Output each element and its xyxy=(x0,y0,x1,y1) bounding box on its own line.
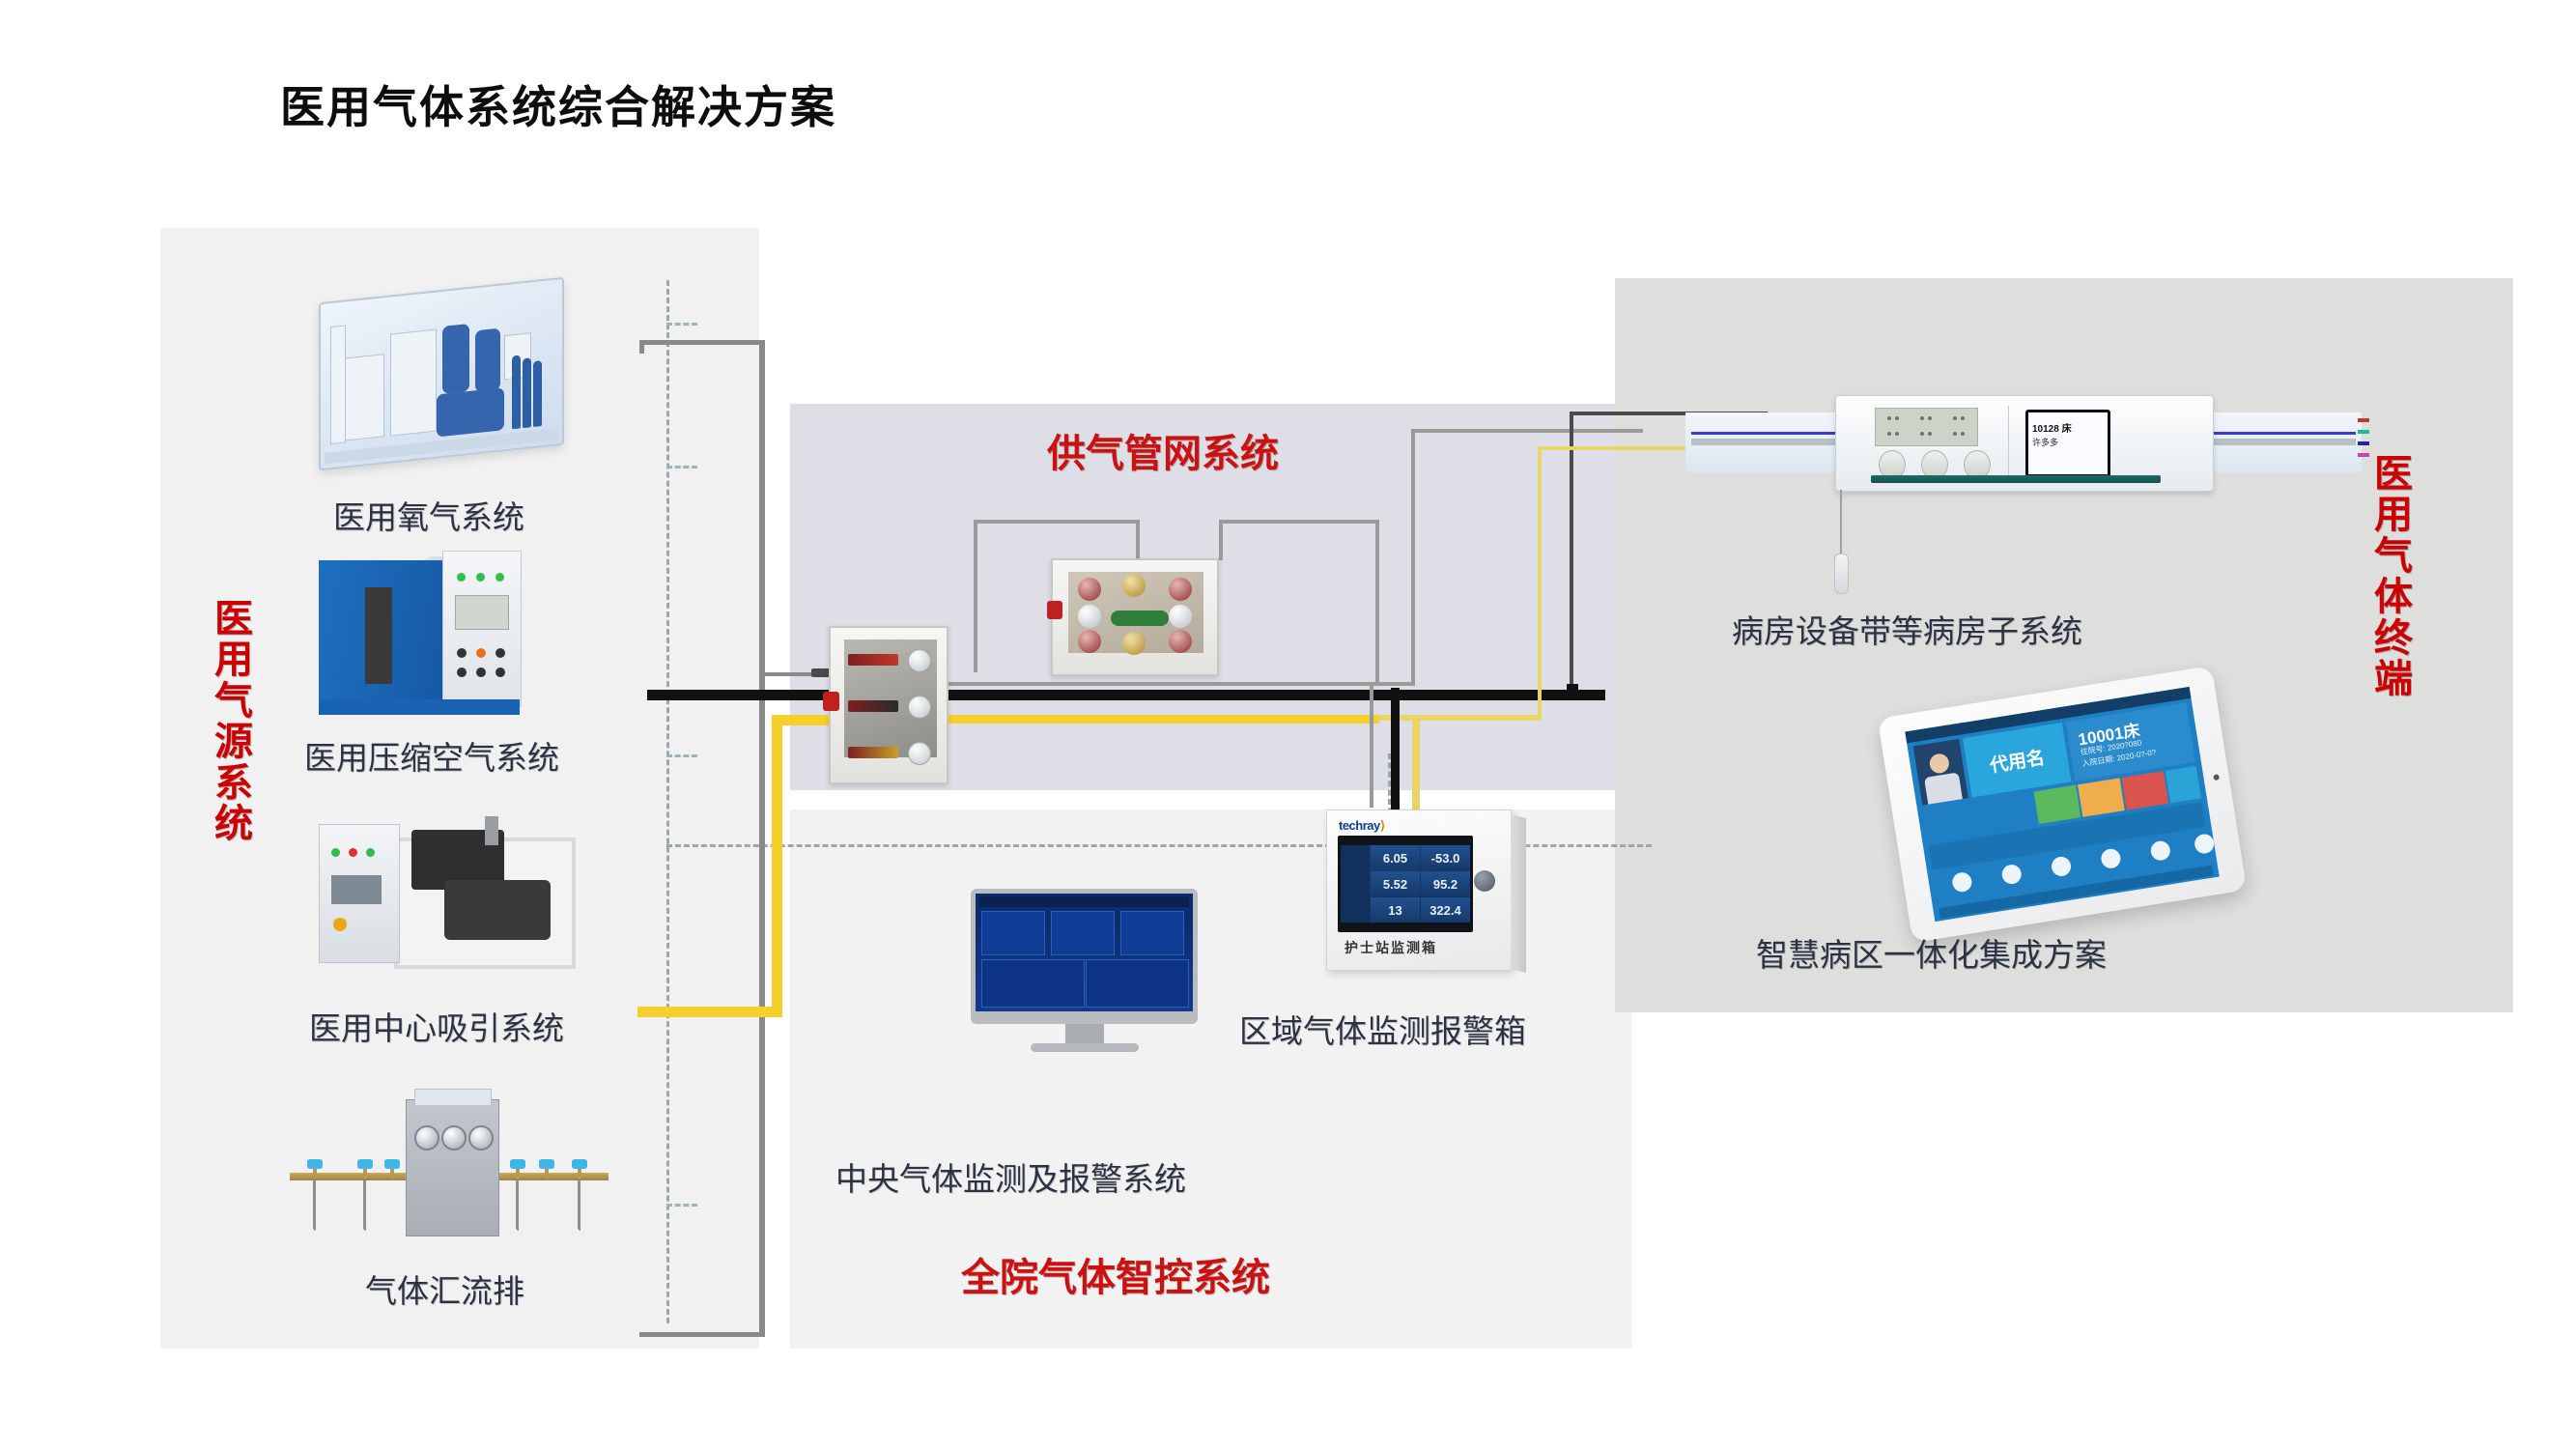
pipe-gray-right-riser xyxy=(1411,429,1415,686)
valve-box-icon xyxy=(829,626,948,784)
pipe-gray-drop-control xyxy=(1370,686,1373,808)
guide-bracket-1 xyxy=(666,323,697,326)
alarm-reading-2: -53.0 xyxy=(1421,845,1470,870)
side-label-terminal-char-2: 气 xyxy=(2364,536,2422,577)
imac-monitor-icon xyxy=(971,889,1198,1063)
pipe-black-left xyxy=(647,690,840,700)
alarm-reading-5: 13 xyxy=(1371,897,1420,923)
guide-dashed-vertical xyxy=(666,280,669,1323)
side-label-source-char-2: 气 xyxy=(205,681,263,722)
pipe-yellow-right-riser xyxy=(1538,446,1542,719)
pipe-gray-loop-top-right xyxy=(1219,520,1379,524)
tablet-patient-name: 代用名 xyxy=(1963,723,2071,798)
side-label-terminal-char-3: 体 xyxy=(2364,577,2422,617)
vacuum-pump-icon xyxy=(319,816,575,976)
side-label-gas-terminal: 医 用 气 体 终 端 xyxy=(2364,454,2422,699)
zone-valve-box-icon xyxy=(1051,558,1219,676)
pipe-yellow-riser xyxy=(772,715,782,1017)
alarm-box-caption: 护士站监测箱 xyxy=(1345,938,1437,957)
side-label-gas-source: 医 用 气 源 系 统 xyxy=(205,599,263,844)
pipe-yellow-right-run xyxy=(1377,715,1542,721)
oxygen-container-icon xyxy=(319,277,564,471)
pipe-black-drop-control xyxy=(1391,688,1400,810)
pipe-gray-bottom-stub xyxy=(639,1332,765,1337)
caption-compressed-air-system: 医用压缩空气系统 xyxy=(304,732,559,779)
pipe-gray-riser xyxy=(759,340,765,1337)
caption-central-monitoring-alarm: 中央气体监测及报警系统 xyxy=(835,1153,1186,1200)
nurse-call-pendant-icon xyxy=(1834,554,1849,594)
side-label-source-char-1: 用 xyxy=(205,639,263,680)
bed-head-unit-icon: 10128 床 许多多 xyxy=(1685,382,2362,502)
side-label-source-char-5: 统 xyxy=(205,804,263,844)
side-label-terminal-char-4: 终 xyxy=(2364,618,2422,659)
caption-smart-ward-solution: 智慧病区一体化集成方案 xyxy=(1756,929,2107,976)
guide-bracket-2 xyxy=(666,466,697,469)
caption-area-alarm-box: 区域气体监测报警箱 xyxy=(1239,1006,1526,1052)
pipe-gray-top-left-drop xyxy=(639,340,644,354)
pipe-black-right-elbow xyxy=(1567,684,1578,695)
caption-bed-head-subsystem: 病房设备带等病房子系统 xyxy=(1732,606,2082,652)
pipe-yellow-main xyxy=(935,715,1379,724)
alarm-reading-1: 6.05 xyxy=(1371,845,1420,870)
pipe-gray-loop-right xyxy=(1375,520,1379,686)
side-label-terminal-char-5: 端 xyxy=(2364,659,2422,699)
pipe-gray-top-stub xyxy=(639,340,765,345)
pipe-gray-loop-top xyxy=(974,520,1140,524)
side-label-source-char-3: 源 xyxy=(205,722,263,762)
page-title: 医用气体系统综合解决方案 xyxy=(280,72,836,136)
pipe-yellow-drop-control xyxy=(1412,717,1420,810)
pipe-black-main xyxy=(935,690,1605,700)
caption-gas-manifold: 气体汇流排 xyxy=(365,1265,524,1312)
side-label-source-char-0: 医 xyxy=(205,599,263,639)
alarm-reading-3: 5.52 xyxy=(1371,871,1420,896)
alarm-reading-6: 322.4 xyxy=(1421,897,1470,923)
pipe-gray-loop-down-1 xyxy=(1136,520,1140,560)
pipe-gray-loop-down-2 xyxy=(1219,520,1223,560)
header-smart-gas-control: 全院气体智控系统 xyxy=(961,1246,1270,1302)
bed-number: 10128 床 xyxy=(2032,420,2072,435)
caption-oxygen-system: 医用氧气系统 xyxy=(333,492,524,538)
side-label-terminal-char-0: 医 xyxy=(2364,454,2422,495)
guide-bracket-5 xyxy=(666,1204,697,1207)
header-pipe-network: 供气管网系统 xyxy=(1047,422,1279,478)
pipe-dark-right-riser xyxy=(1570,412,1573,692)
side-label-source-char-4: 系 xyxy=(205,763,263,804)
techray-logo: techray⟩ xyxy=(1339,818,1385,834)
side-label-terminal-char-1: 用 xyxy=(2364,495,2422,535)
pipe-gray-loop-left xyxy=(974,520,977,672)
guide-bracket-3 xyxy=(666,754,697,757)
pipe-gray-lower-run xyxy=(931,682,1414,686)
alarm-reading-4: 95.2 xyxy=(1421,871,1470,896)
caption-central-vacuum-system: 医用中心吸引系统 xyxy=(309,1003,564,1049)
diagram-canvas: 医用气体系统综合解决方案 xyxy=(0,0,2576,1449)
area-alarm-box-icon: techray⟩ 6.05 -53.0 5.52 95.2 13 322.4 护… xyxy=(1326,810,1512,971)
gas-manifold-icon xyxy=(290,1082,609,1256)
air-compressor-icon xyxy=(319,551,570,715)
patient-name: 许多多 xyxy=(2032,436,2058,448)
pipe-yellow-bottom-run xyxy=(637,1007,782,1017)
pipe-gray-right-top xyxy=(1411,429,1643,433)
lock-icon xyxy=(1474,870,1495,892)
